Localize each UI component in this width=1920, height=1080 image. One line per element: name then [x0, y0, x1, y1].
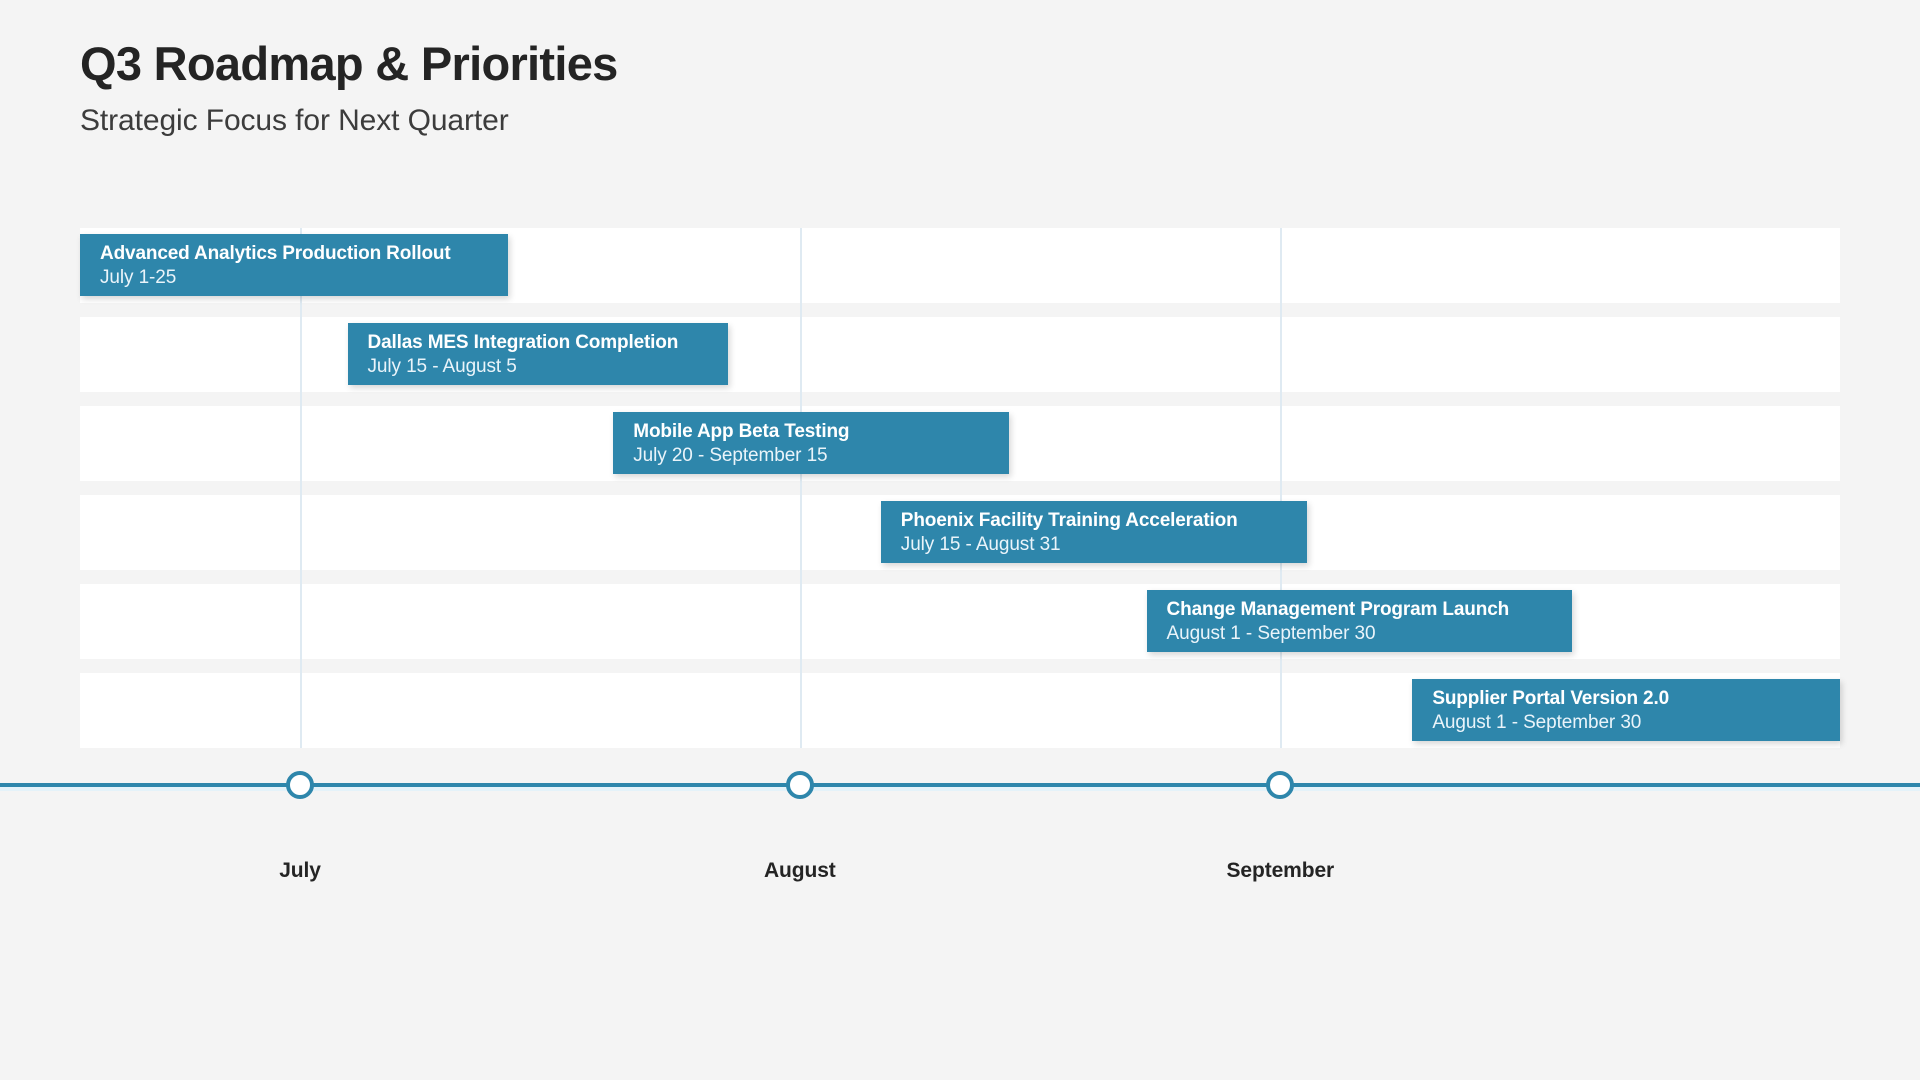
axis-marker-september[interactable]: [1266, 771, 1294, 799]
axis-marker-august[interactable]: [786, 771, 814, 799]
gridline-september: [1280, 228, 1282, 748]
timeline-bar-dates: July 1-25: [100, 267, 176, 289]
timeline-bar[interactable]: Phoenix Facility Training AccelerationJu…: [881, 501, 1307, 563]
timeline-bar-dates: July 15 - August 5: [368, 356, 517, 378]
timeline-bar-dates: July 20 - September 15: [633, 445, 827, 467]
axis-marker-july[interactable]: [286, 771, 314, 799]
timeline-row-bands: [80, 228, 1840, 748]
timeline-bar[interactable]: Change Management Program LaunchAugust 1…: [1147, 590, 1573, 652]
month-label-august: August: [764, 859, 836, 883]
timeline-bar[interactable]: Dallas MES Integration CompletionJuly 15…: [348, 323, 728, 385]
timeline-bar-label: Dallas MES Integration Completion: [368, 332, 679, 354]
gridline-july: [300, 228, 302, 748]
timeline-bar[interactable]: Advanced Analytics Production RolloutJul…: [80, 234, 508, 296]
timeline-bar-label: Phoenix Facility Training Acceleration: [901, 510, 1238, 532]
timeline-row: [80, 584, 1840, 659]
timeline-row: [80, 317, 1840, 392]
slide-canvas: Q3 Roadmap & Priorities Strategic Focus …: [0, 0, 1920, 1080]
timeline-bar[interactable]: Supplier Portal Version 2.0August 1 - Se…: [1412, 679, 1840, 741]
page-subtitle: Strategic Focus for Next Quarter: [80, 104, 618, 138]
timeline-bar-label: Advanced Analytics Production Rollout: [100, 243, 451, 265]
timeline-bar-dates: July 15 - August 31: [901, 534, 1061, 556]
timeline-bar-dates: August 1 - September 30: [1432, 712, 1641, 734]
timeline-bar-label: Mobile App Beta Testing: [633, 421, 849, 443]
month-label-september: September: [1226, 859, 1334, 883]
timeline-bar[interactable]: Mobile App Beta TestingJuly 20 - Septemb…: [613, 412, 1009, 474]
timeline-bar-label: Supplier Portal Version 2.0: [1432, 688, 1669, 710]
month-label-july: July: [279, 859, 321, 883]
timeline-bar-dates: August 1 - September 30: [1167, 623, 1376, 645]
timeline-bar-label: Change Management Program Launch: [1167, 599, 1510, 621]
slide-header: Q3 Roadmap & Priorities Strategic Focus …: [80, 38, 618, 138]
gridline-august: [800, 228, 802, 748]
timeline-plot-area: Advanced Analytics Production RolloutJul…: [80, 228, 1840, 748]
page-title: Q3 Roadmap & Priorities: [80, 38, 618, 90]
